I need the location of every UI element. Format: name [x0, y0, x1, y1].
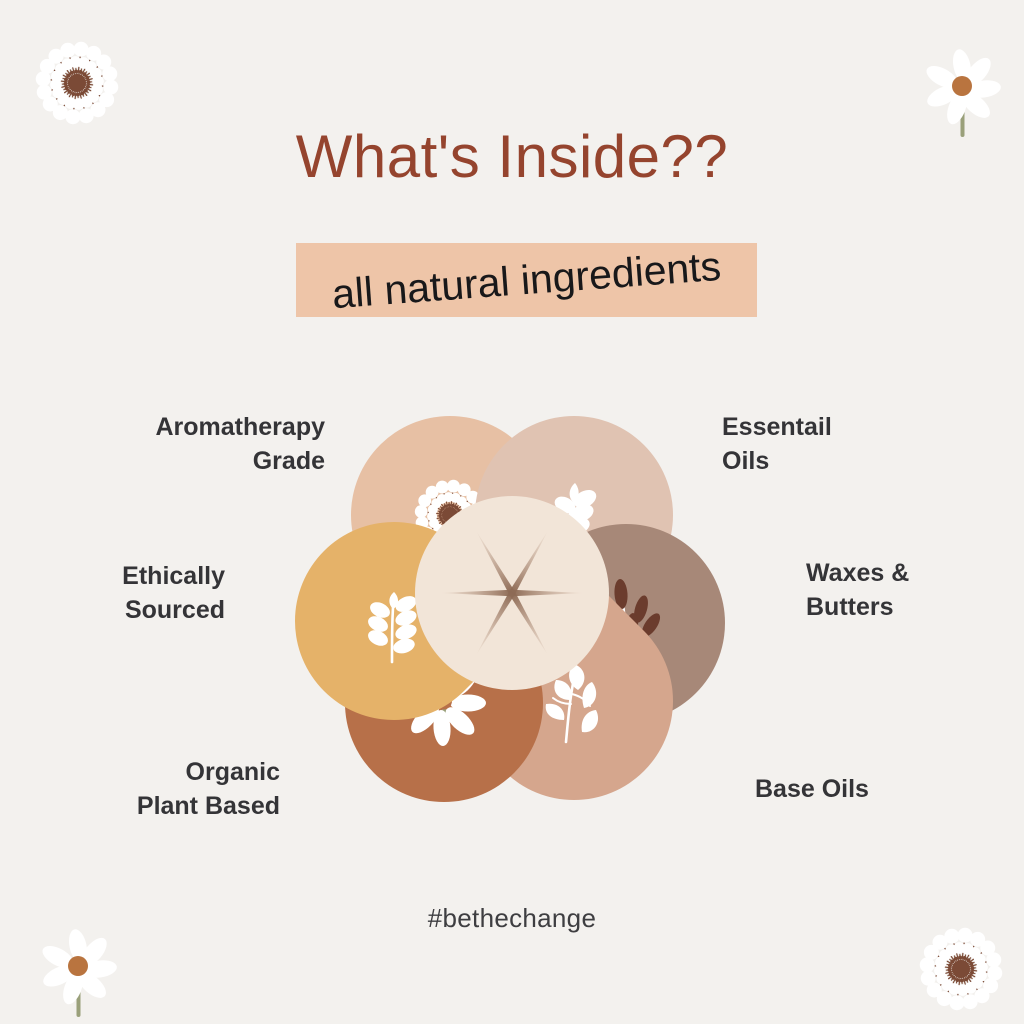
- footer-hashtag: #bethechange: [0, 903, 1024, 934]
- label-base-oils-line1: Base Oils: [755, 772, 1005, 806]
- label-ethically-sourced-line2: Sourced: [30, 593, 225, 627]
- label-ethically-sourced-line1: Ethically: [30, 559, 225, 593]
- label-organic-plant-based-line2: Plant Based: [30, 789, 280, 823]
- label-waxes-butters-line2: Butters: [806, 590, 1024, 624]
- label-essential-oils-line1: Essentail: [722, 410, 1002, 444]
- label-organic-plant-based: Organic Plant Based: [30, 755, 280, 823]
- label-waxes-butters: Waxes & Butters: [806, 556, 1024, 624]
- label-base-oils: Base Oils: [755, 772, 1005, 806]
- label-essential-oils: Essentail Oils: [722, 410, 1002, 478]
- ingredient-flower-diagram: [262, 348, 762, 838]
- label-aromatherapy: Aromatherapy Grade: [30, 410, 325, 478]
- label-aromatherapy-line2: Grade: [30, 444, 325, 478]
- page-title: What's Inside??: [0, 122, 1024, 191]
- allium-burst-icon: [920, 928, 1003, 1011]
- label-ethically-sourced: Ethically Sourced: [30, 559, 225, 627]
- flower-core[interactable]: [415, 496, 609, 690]
- allium-burst-icon: [36, 42, 119, 125]
- label-waxes-butters-line1: Waxes &: [806, 556, 1024, 590]
- sparkle-star-icon: [437, 518, 587, 668]
- poster-canvas: What's Inside?? all natural ingredients: [0, 0, 1024, 1024]
- label-essential-oils-line2: Oils: [722, 444, 1002, 478]
- label-aromatherapy-line1: Aromatherapy: [30, 410, 325, 444]
- label-organic-plant-based-line1: Organic: [30, 755, 280, 789]
